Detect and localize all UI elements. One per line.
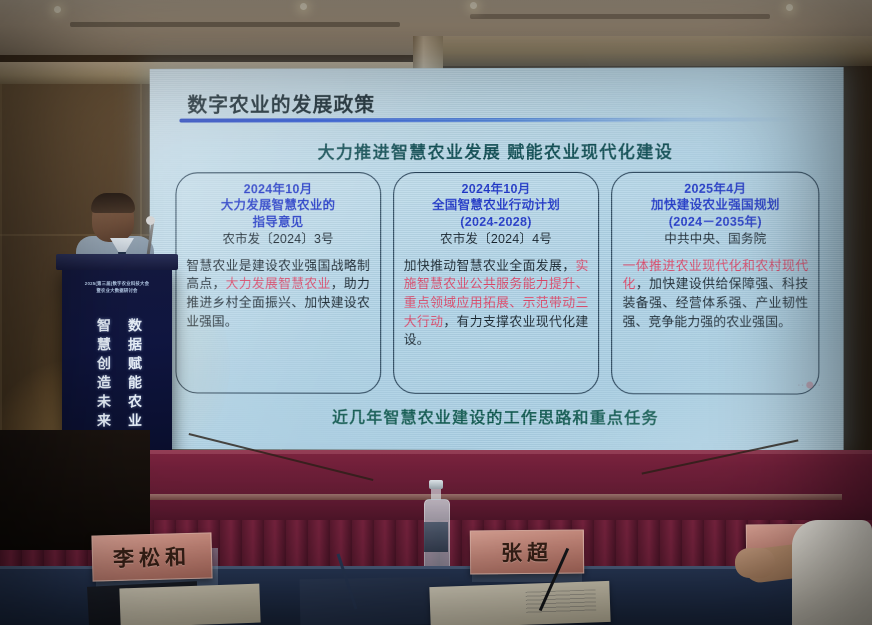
- podium-title-line2: 暨农业大数据研讨会: [68, 287, 166, 294]
- slide-footer-text: 近几年智慧农业建设的工作思路和重点任务: [150, 403, 844, 428]
- watermark-dot-icon: [806, 382, 813, 389]
- podium-calligraphy-left: 智慧创造未来: [92, 318, 112, 449]
- policy-box-header: 2025年4月 加快建设农业强国规划 (2024－2035年): [651, 181, 780, 230]
- policy-body-pre: 加快推动智慧农业全面发展，: [404, 258, 576, 273]
- ceiling-seam: [70, 22, 400, 27]
- speaker-hair: [91, 193, 135, 213]
- slide-subtitle: 大力推进智慧农业发展 赋能农业现代化建设: [150, 137, 844, 163]
- policy-date: 2024年10月: [221, 181, 335, 197]
- policy-body-post: ，加快建设供给保障强、科技装备强、经营体系强、产业韧性强、竞争能力强的农业强国。: [623, 276, 809, 329]
- ceiling-spotlight: [300, 3, 307, 10]
- policy-box-row: 2024年10月 大力发展智慧农业的 指导意见 农市发〔2024〕3号 智慧农业…: [175, 172, 819, 395]
- attendee-hand: [735, 548, 775, 578]
- desk-folder-blue: [300, 577, 451, 625]
- nameplate-text: 李松和: [113, 541, 192, 573]
- podium-top-surface: [56, 254, 178, 270]
- policy-body-highlight: 大力发展智慧农业: [226, 276, 331, 291]
- led-presentation-screen: 数字农业的发展政策 大力推进智慧农业发展 赋能农业现代化建设 2024年10月 …: [150, 67, 844, 451]
- policy-date: 2024年10月: [432, 181, 560, 197]
- policy-box-header: 2024年10月 全国智慧农业行动计划 (2024-2028): [432, 181, 560, 230]
- policy-body: 加快推动智慧农业全面发展，实施智慧农业公共服务能力提升、重点领域应用拓展、示范带…: [401, 257, 592, 350]
- podium-conference-title: 2025(第三届)数字农业科技大会 暨农业大数据研讨会: [68, 280, 166, 294]
- policy-box: 2025年4月 加快建设农业强国规划 (2024－2035年) 中共中央、国务院…: [612, 172, 820, 395]
- ceiling-spotlight: [470, 2, 477, 9]
- slide-watermark: ····: [798, 381, 822, 390]
- notebook-written-lines: [526, 589, 597, 613]
- stage-dark-left: [0, 430, 150, 550]
- policy-name-line1: 全国智慧农业行动计划: [432, 197, 560, 213]
- title-divider-rule: [179, 117, 799, 122]
- policy-name-line1: 加快建设农业强国规划: [651, 197, 780, 213]
- policy-doc-number: 农市发〔2024〕3号: [222, 231, 333, 248]
- policy-name-line2: 指导意见: [221, 214, 335, 230]
- bottle-label: [424, 522, 448, 552]
- wall-cornice-right: [430, 36, 872, 66]
- stage-table-lip: [148, 494, 842, 500]
- policy-box-header: 2024年10月 大力发展智慧农业的 指导意见: [221, 181, 335, 230]
- policy-body: 一体推进农业现代化和农村现代化，加快建设供给保障强、科技装备强、经营体系强、产业…: [620, 257, 812, 332]
- policy-name-line1: 大力发展智慧农业的: [221, 197, 335, 213]
- policy-date: 2025年4月: [651, 181, 780, 197]
- policy-doc-number: 中共中央、国务院: [664, 231, 766, 248]
- slide-title: 数字农业的发展政策: [187, 88, 375, 117]
- policy-box: 2024年10月 全国智慧农业行动计划 (2024-2028) 农市发〔2024…: [393, 172, 600, 394]
- podium-calligraphy: 智慧创造未来 数据赋能农业: [62, 318, 172, 448]
- wall-dark-right: [840, 66, 872, 486]
- podium-title-line1: 2025(第三届)数字农业科技大会: [68, 280, 166, 287]
- ceiling-spotlight: [54, 6, 61, 13]
- policy-doc-number: 农市发〔2024〕4号: [440, 231, 552, 248]
- nameplate: 李松和: [91, 532, 212, 581]
- policy-name-line2: (2024－2035年): [651, 213, 780, 229]
- microphone-head-icon: [146, 216, 155, 225]
- attendee-person-right: [792, 520, 872, 625]
- slide-content: 数字农业的发展政策 大力推进智慧农业发展 赋能农业现代化建设 2024年10月 …: [150, 67, 844, 451]
- nameplate-text: 张超: [501, 537, 553, 567]
- podium-calligraphy-right: 数据赋能农业: [123, 318, 143, 449]
- desk-notebook: [429, 581, 610, 625]
- conference-photo-scene: 数字农业的发展政策 大力推进智慧农业发展 赋能农业现代化建设 2024年10月 …: [0, 0, 872, 625]
- ceiling-spotlight: [786, 4, 793, 11]
- policy-name-line2: (2024-2028): [432, 213, 560, 229]
- ceiling-seam-secondary: [470, 14, 770, 19]
- bottle-cap: [429, 480, 443, 489]
- desk-paper-stack: [119, 584, 260, 625]
